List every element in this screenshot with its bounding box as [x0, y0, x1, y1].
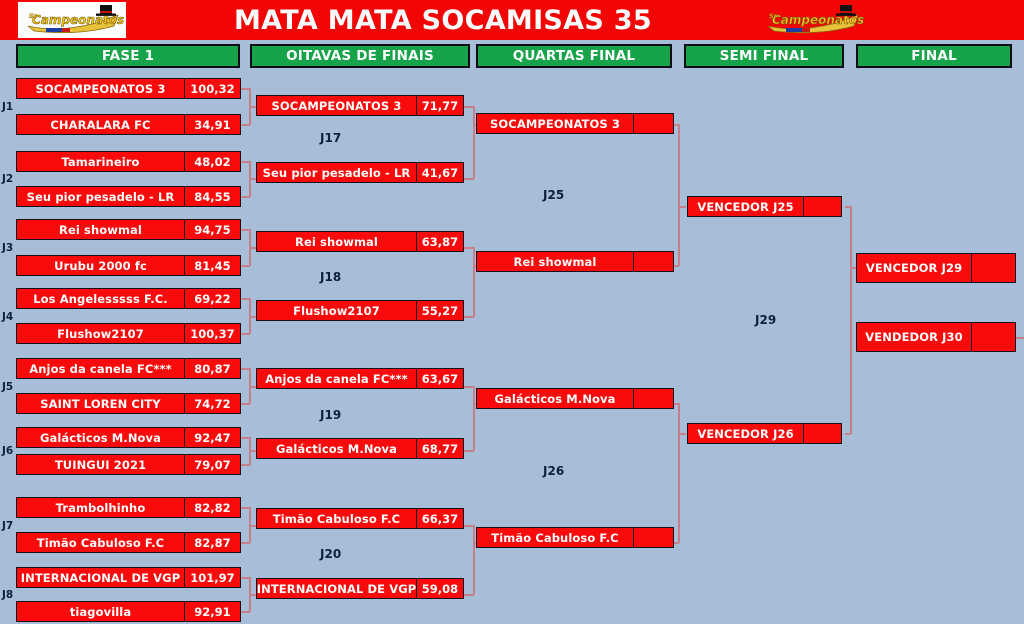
team-name: Los Angelesssss F.C. — [17, 289, 184, 308]
connector — [845, 206, 851, 208]
table-row[interactable]: SOCAMPEONATOS 3 — [476, 113, 674, 134]
table-row[interactable]: Galácticos M.Nova 68,77 — [256, 438, 464, 459]
team-name: Anjos da canela FC*** — [17, 359, 184, 378]
connector — [678, 403, 680, 543]
match-label-j19: J19 — [320, 408, 341, 422]
table-row[interactable]: Rei showmal 94,75 — [16, 219, 241, 240]
match-label-j26: J26 — [543, 464, 564, 478]
team-name: Trambolhinho — [17, 498, 184, 517]
team-score — [803, 424, 841, 443]
match-label-j20: J20 — [320, 547, 341, 561]
match-label-j7: J7 — [2, 520, 13, 532]
table-row[interactable]: Rei showmal — [476, 251, 674, 272]
table-row[interactable]: TUINGUI 2021 79,07 — [16, 454, 241, 475]
team-name: Rei showmal — [257, 232, 416, 251]
team-name: Anjos da canela FC*** — [257, 369, 416, 388]
table-row[interactable]: CHARALARA FC 34,91 — [16, 114, 241, 135]
round-header-semi: SEMI FINAL — [684, 44, 844, 68]
team-name: tiagovilla — [17, 602, 184, 621]
round-header-oitavas: OITAVAS DE FINAIS — [250, 44, 470, 68]
team-score: 41,67 — [416, 163, 463, 182]
table-row[interactable]: VENCEDOR J29 — [856, 253, 1016, 283]
table-row[interactable]: VENCEDOR J26 — [687, 423, 842, 444]
team-name: Galácticos M.Nova — [257, 439, 416, 458]
team-score: 74,72 — [184, 394, 240, 413]
match-label-j8: J8 — [2, 589, 13, 601]
team-name: Rei showmal — [477, 252, 633, 271]
team-name: Tamarineiro — [17, 152, 184, 171]
connector — [678, 433, 686, 435]
team-name: Timão Cabuloso F.C — [257, 509, 416, 528]
table-row[interactable]: Seu pior pesadelo - LR 84,55 — [16, 186, 241, 207]
logo-graphic: Campeonatos Sr — [18, 2, 126, 38]
svg-text:Sr: Sr — [769, 12, 778, 20]
team-score: 55,27 — [416, 301, 463, 320]
logo-graphic: Campeonatos Sr — [758, 2, 866, 38]
connector — [845, 433, 851, 435]
team-score: 92,91 — [184, 602, 240, 621]
team-name: Galácticos M.Nova — [17, 428, 184, 447]
team-score: 101,97 — [184, 568, 240, 587]
round-header-final: FINAL — [856, 44, 1012, 68]
team-name: Timão Cabuloso F.C — [477, 528, 633, 547]
page-title: MATA MATA SOCAMISAS 35 — [130, 0, 756, 40]
team-score — [803, 197, 841, 216]
table-row[interactable]: Tamarineiro 48,02 — [16, 151, 241, 172]
table-row[interactable]: INTERNACIONAL DE VGP 101,97 — [16, 567, 241, 588]
team-name: TUINGUI 2021 — [17, 455, 184, 474]
table-row[interactable]: Galácticos M.Nova — [476, 388, 674, 409]
match-label-j6: J6 — [2, 445, 13, 457]
table-row[interactable]: VENCEDOR J25 — [687, 196, 842, 217]
connector — [850, 206, 852, 434]
team-name: SOCAMPEONATOS 3 — [17, 79, 184, 98]
team-score: 82,87 — [184, 533, 240, 552]
team-score: 79,07 — [184, 455, 240, 474]
team-score: 59,08 — [416, 579, 463, 598]
team-name: CHARALARA FC — [17, 115, 184, 134]
team-name: VENCEDOR J26 — [688, 424, 803, 443]
table-row[interactable]: Los Angelesssss F.C. 69,22 — [16, 288, 241, 309]
team-name: Flushow2107 — [257, 301, 416, 320]
match-label-j18: J18 — [320, 270, 341, 284]
table-row[interactable]: Timão Cabuloso F.C 66,37 — [256, 508, 464, 529]
connector — [473, 247, 475, 317]
table-row[interactable]: SAINT LOREN CITY 74,72 — [16, 393, 241, 414]
table-row[interactable]: INTERNACIONAL DE VGP 59,08 — [256, 578, 464, 599]
table-row[interactable]: Rei showmal 63,87 — [256, 231, 464, 252]
team-score: 69,22 — [184, 289, 240, 308]
team-score — [633, 389, 673, 408]
match-label-j1: J1 — [2, 101, 13, 113]
connector — [473, 525, 475, 595]
team-score: 34,91 — [184, 115, 240, 134]
team-score: 63,67 — [416, 369, 463, 388]
table-row[interactable]: SOCAMPEONATOS 3 71,77 — [256, 95, 464, 116]
team-score — [971, 254, 1015, 282]
team-name: INTERNACIONAL DE VGP — [17, 568, 184, 587]
match-label-j25: J25 — [543, 188, 564, 202]
match-label-j2: J2 — [2, 173, 13, 185]
connector — [678, 206, 686, 208]
table-row[interactable]: Urubu 2000 fc 81,45 — [16, 255, 241, 276]
team-score: 100,37 — [184, 324, 240, 343]
table-row[interactable]: Flushow2107 55,27 — [256, 300, 464, 321]
table-row[interactable]: Flushow2107 100,37 — [16, 323, 241, 344]
sr-campeonatos-logo-left: Campeonatos Sr — [18, 2, 126, 38]
table-row[interactable]: tiagovilla 92,91 — [16, 601, 241, 622]
connector — [473, 386, 475, 451]
team-score: 81,45 — [184, 256, 240, 275]
team-score: 80,87 — [184, 359, 240, 378]
team-score: 66,37 — [416, 509, 463, 528]
team-name: Seu pior pesadelo - LR — [257, 163, 416, 182]
team-score: 71,77 — [416, 96, 463, 115]
table-row[interactable]: Timão Cabuloso F.C 82,87 — [16, 532, 241, 553]
team-name: INTERNACIONAL DE VGP — [257, 579, 416, 598]
match-label-j4: J4 — [2, 311, 13, 323]
team-name: SAINT LOREN CITY — [17, 394, 184, 413]
table-row[interactable]: Anjos da canela FC*** 63,67 — [256, 368, 464, 389]
team-score: 82,82 — [184, 498, 240, 517]
table-row[interactable]: SOCAMPEONATOS 3 100,32 — [16, 78, 241, 99]
sr-campeonatos-logo-right: Campeonatos Sr — [758, 2, 866, 38]
team-score: 94,75 — [184, 220, 240, 239]
round-header-quartas: QUARTAS FINAL — [476, 44, 672, 68]
team-score: 48,02 — [184, 152, 240, 171]
match-label-j3: J3 — [2, 242, 13, 254]
team-name: Seu pior pesadelo - LR — [17, 187, 184, 206]
team-score — [633, 114, 673, 133]
match-label-j17: J17 — [320, 131, 341, 145]
round-header-fase1: FASE 1 — [16, 44, 240, 68]
match-label-j5: J5 — [2, 381, 13, 393]
table-row[interactable]: Trambolhinho 82,82 — [16, 497, 241, 518]
team-name: Timão Cabuloso F.C — [17, 533, 184, 552]
table-row[interactable]: Galácticos M.Nova 92,47 — [16, 427, 241, 448]
team-name: Galácticos M.Nova — [477, 389, 633, 408]
team-score: 84,55 — [184, 187, 240, 206]
table-row[interactable]: VENDEDOR J30 — [856, 322, 1016, 352]
team-name: Urubu 2000 fc — [17, 256, 184, 275]
connector — [678, 124, 680, 266]
team-score — [633, 528, 673, 547]
table-row[interactable]: Timão Cabuloso F.C — [476, 527, 674, 548]
team-name: SOCAMPEONATOS 3 — [477, 114, 633, 133]
team-name: SOCAMPEONATOS 3 — [257, 96, 416, 115]
team-score: 92,47 — [184, 428, 240, 447]
table-row[interactable]: Anjos da canela FC*** 80,87 — [16, 358, 241, 379]
svg-text:Sr: Sr — [29, 12, 38, 20]
match-label-j29: J29 — [755, 313, 776, 327]
team-score: 100,32 — [184, 79, 240, 98]
team-name: VENCEDOR J25 — [688, 197, 803, 216]
team-name: VENCEDOR J29 — [857, 254, 971, 282]
team-score — [633, 252, 673, 271]
team-score: 68,77 — [416, 439, 463, 458]
team-name: Rei showmal — [17, 220, 184, 239]
team-name: Flushow2107 — [17, 324, 184, 343]
title-bar: Campeonatos Sr MATA MATA SOCAMISAS 35 Ca… — [0, 0, 1024, 40]
connector — [473, 106, 475, 179]
team-score — [971, 323, 1015, 351]
table-row[interactable]: Seu pior pesadelo - LR 41,67 — [256, 162, 464, 183]
team-name: VENDEDOR J30 — [857, 323, 971, 351]
team-score: 63,87 — [416, 232, 463, 251]
